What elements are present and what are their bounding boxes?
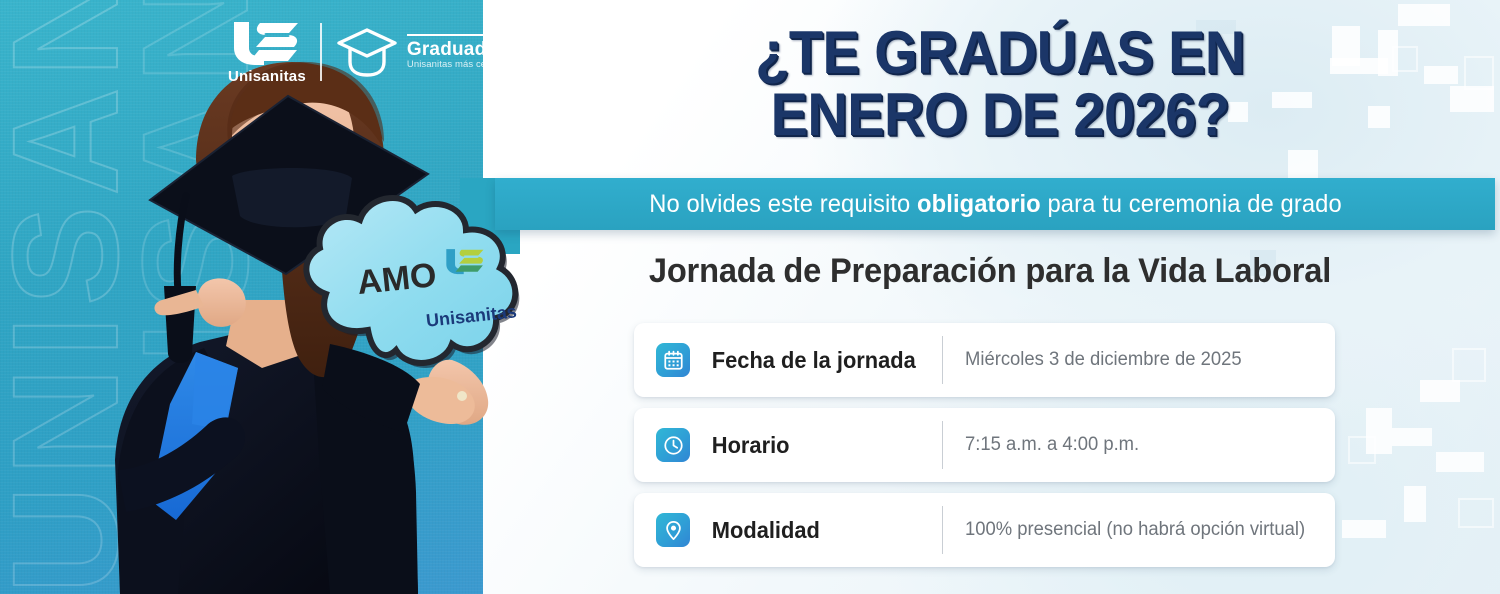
clock-icon	[656, 428, 690, 462]
requirement-text: No olvides este requisito obligatorio pa…	[649, 190, 1342, 219]
graduados-sublogo: Graduados Unisanitas más cerca	[336, 27, 509, 77]
unisanitas-logo: Unisanitas	[228, 20, 306, 85]
page-title: ¿TE GRADÚAS EN ENERO DE 2026?	[554, 22, 1447, 146]
headline-line-1: ¿TE GRADÚAS EN	[554, 22, 1447, 84]
requirement-text-before: No olvides este requisito	[649, 190, 917, 218]
graduados-rule	[407, 34, 509, 36]
logo-divider	[320, 23, 322, 81]
unisanitas-wordmark: Unisanitas	[228, 68, 306, 85]
detail-label: Fecha de la jornada	[712, 347, 932, 374]
detail-card-modalidad: Modalidad 100% presencial (no habrá opci…	[634, 493, 1335, 567]
event-subtitle: Jornada de Preparación para la Vida Labo…	[539, 252, 1441, 291]
graduados-title: Graduados	[407, 40, 509, 59]
calendar-icon	[656, 343, 690, 377]
detail-divider	[942, 421, 943, 469]
headline-line-2: ENERO DE 2026?	[554, 84, 1447, 146]
requirement-text-after: para tu ceremonia de grado	[1040, 190, 1341, 218]
graduate-photo: AMO Unisanitas	[0, 0, 600, 594]
brand-logo-lockup: Unisanitas Graduados Unisanitas más cerc…	[228, 16, 509, 88]
graduation-cap-icon	[336, 27, 398, 77]
detail-divider	[942, 336, 943, 384]
graduados-tagline: Unisanitas más cerca	[407, 60, 509, 70]
unisanitas-us-monogram-icon	[230, 20, 304, 66]
detail-label: Modalidad	[712, 517, 932, 544]
detail-value: 100% presencial (no habrá opción virtual…	[965, 518, 1305, 542]
promo-banner: UNISANITAS UNISANITAS Unisanitas Graduad…	[0, 0, 1500, 594]
detail-card-fecha: Fecha de la jornada Miércoles 3 de dicie…	[634, 323, 1335, 397]
detail-card-horario: Horario 7:15 a.m. a 4:00 p.m.	[634, 408, 1335, 482]
detail-label: Horario	[712, 432, 932, 459]
detail-value: Miércoles 3 de diciembre de 2025	[965, 348, 1242, 372]
location-pin-icon	[656, 513, 690, 547]
detail-divider	[942, 506, 943, 554]
event-details-list: Fecha de la jornada Miércoles 3 de dicie…	[634, 323, 1335, 567]
requirement-banner: No olvides este requisito obligatorio pa…	[495, 178, 1495, 230]
detail-value: 7:15 a.m. a 4:00 p.m.	[965, 433, 1139, 457]
requirement-text-bold: obligatorio	[917, 190, 1041, 218]
